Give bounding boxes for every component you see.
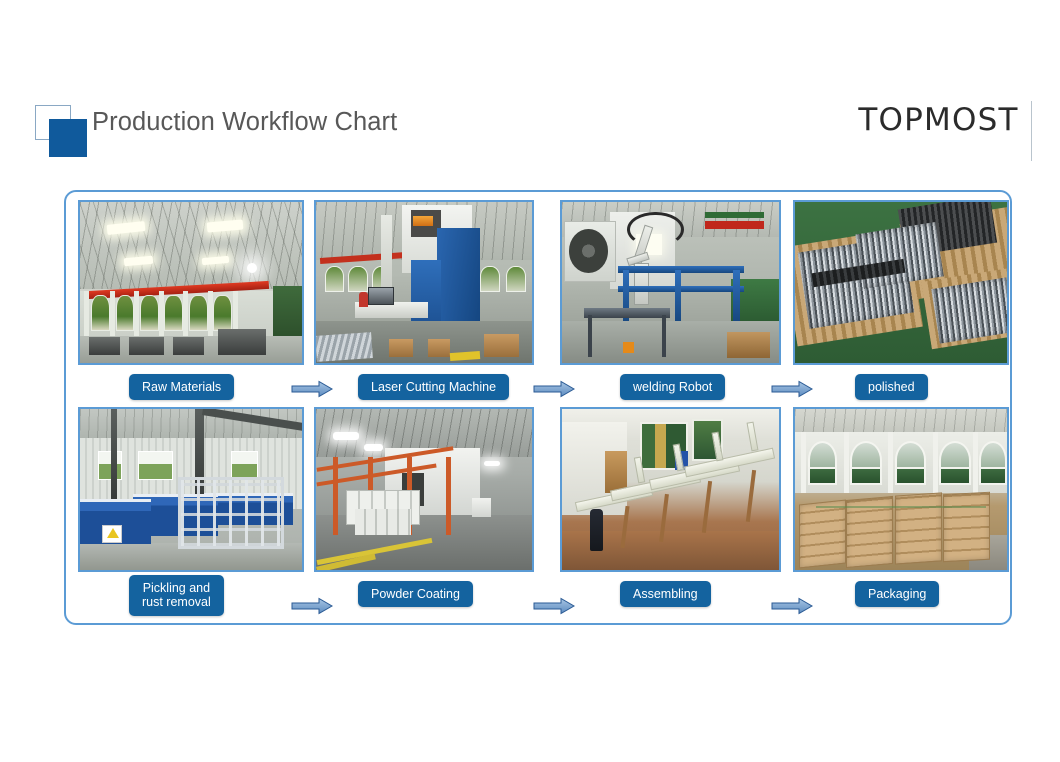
workflow-step-powder-coating[interactable]: Powder Coating [314, 401, 540, 613]
step-label[interactable]: welding Robot [620, 374, 725, 400]
title-decoration-squares-icon [35, 105, 89, 157]
logo-divider [1031, 101, 1032, 161]
workflow-step-packaging[interactable]: Packaging [793, 401, 1019, 613]
workflow-row-2: Pickling and rust removal [66, 401, 1014, 613]
polished-parts-photo [793, 200, 1009, 365]
assembling-photo [560, 407, 781, 572]
step-label[interactable]: Assembling [620, 581, 711, 607]
workflow-step-laser-cutting[interactable]: Laser Cutting Machine [314, 194, 540, 406]
workflow-step-welding-robot[interactable]: welding Robot [560, 194, 786, 406]
step-label[interactable]: Packaging [855, 581, 939, 607]
step-label[interactable]: Powder Coating [358, 581, 473, 607]
step-label[interactable]: Laser Cutting Machine [358, 374, 509, 400]
company-logo: TOPMOST [858, 101, 1032, 163]
logo-text-after: OST [952, 102, 1019, 138]
workflow-step-polished[interactable]: polished [793, 194, 1019, 406]
powder-coating-photo [314, 407, 534, 572]
step-label[interactable]: Raw Materials [129, 374, 234, 400]
pickling-tanks-photo [78, 407, 304, 572]
laser-cutting-photo [314, 200, 534, 365]
workflow-frame: Raw Materials [64, 190, 1012, 625]
workflow-step-pickling[interactable]: Pickling and rust removal [78, 401, 304, 613]
logo-text: TOPMOST [858, 105, 1018, 136]
logo-text-before: TOP [858, 102, 924, 138]
logo-letter-m-icon: M [924, 105, 952, 136]
raw-materials-photo [78, 200, 304, 365]
workflow-step-raw-materials[interactable]: Raw Materials [78, 194, 304, 406]
workflow-row-1: Raw Materials [66, 194, 1014, 406]
welding-robot-photo [560, 200, 781, 365]
page-title: Production Workflow Chart [92, 108, 397, 137]
square-solid-icon [49, 119, 87, 157]
step-label[interactable]: Pickling and rust removal [129, 575, 224, 616]
workflow-step-assembling[interactable]: Assembling [560, 401, 786, 613]
slide-canvas: Production Workflow Chart TOPMOST [0, 0, 1060, 762]
step-label[interactable]: polished [855, 374, 928, 400]
packaging-photo [793, 407, 1009, 572]
